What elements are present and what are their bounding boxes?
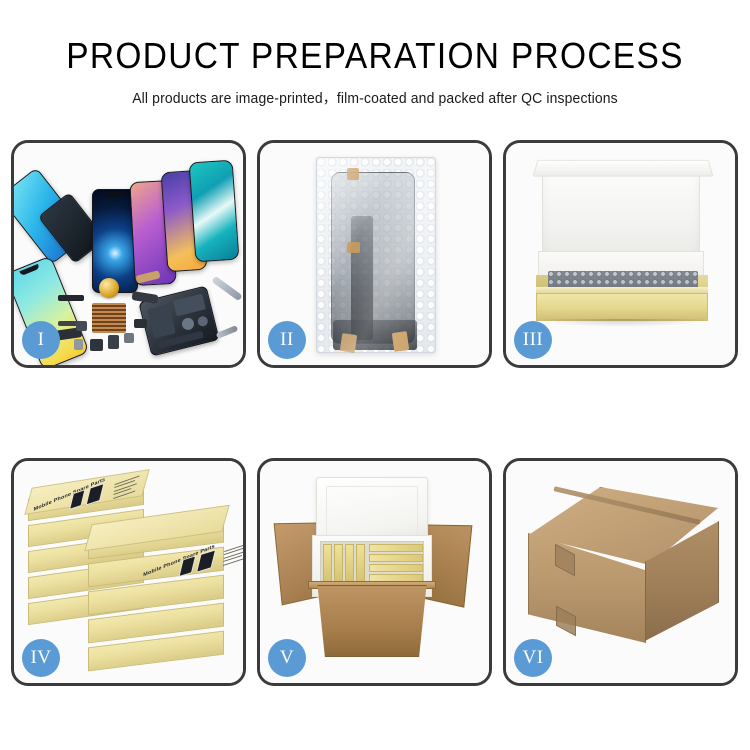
- small-part-icon: [134, 319, 147, 328]
- header: PRODUCT PREPARATION PROCESS All products…: [0, 0, 750, 108]
- process-step-panel-4: Mobile Phone Spare Parts Mobile Phone Sp…: [11, 458, 246, 686]
- packed-boxes-group: [320, 541, 424, 583]
- process-step-panel-2: II: [257, 140, 492, 368]
- small-part-icon: [90, 339, 103, 351]
- yellow-box-front-icon: [536, 293, 708, 321]
- tape-icon: [340, 333, 357, 353]
- packed-yellow-box: [356, 544, 365, 582]
- box-spec-lines: [113, 476, 139, 501]
- process-step-panel-1: I: [11, 140, 246, 368]
- phone-teal-icon: [189, 160, 240, 263]
- wrapped-screen-icon: [331, 172, 415, 344]
- tweezers-icon: [211, 276, 243, 302]
- connector-grid-icon: [92, 303, 126, 333]
- bubble-wrap-icon: [316, 157, 436, 353]
- packed-yellow-box: [369, 554, 423, 562]
- carton-front-icon: [310, 585, 434, 657]
- product-preparation-infographic: PRODUCT PREPARATION PROCESS All products…: [0, 0, 750, 750]
- small-part-icon: [74, 339, 83, 350]
- step-badge-1: I: [22, 321, 60, 359]
- packed-yellow-box: [345, 544, 354, 582]
- step-badge-5: V: [268, 639, 306, 677]
- step-badge-6: VI: [514, 639, 552, 677]
- packed-yellow-box: [369, 544, 423, 552]
- small-part-icon: [76, 321, 87, 331]
- packed-yellow-box: [323, 544, 332, 582]
- box-stack: Mobile Phone Spare Parts Mobile Phone Sp…: [26, 483, 234, 669]
- packed-yellow-box: [334, 544, 343, 582]
- process-step-panel-6: VI: [503, 458, 738, 686]
- page-subtitle: All products are image-printed，film-coat…: [11, 87, 739, 108]
- speaker-coil-icon: [99, 278, 119, 298]
- box-spec-lines: [223, 543, 243, 568]
- screwdriver-icon: [216, 325, 239, 339]
- process-step-panel-3: III: [503, 140, 738, 368]
- process-step-grid: I II: [11, 140, 739, 688]
- small-part-icon: [108, 335, 119, 349]
- flex-cable-icon: [131, 291, 158, 304]
- step-badge-2: II: [268, 321, 306, 359]
- tape-icon: [347, 168, 359, 180]
- tape-icon: [392, 331, 409, 352]
- component-bar-icon: [58, 295, 84, 301]
- step-badge-4: IV: [22, 639, 60, 677]
- small-part-icon: [124, 333, 134, 343]
- process-step-panel-5: V: [257, 458, 492, 686]
- box-shadow-icon: [540, 319, 706, 327]
- tape-icon: [347, 242, 360, 253]
- page-title: PRODUCT PREPARATION PROCESS: [26, 36, 724, 76]
- step-badge-3: III: [514, 321, 552, 359]
- packed-yellow-box: [369, 564, 423, 572]
